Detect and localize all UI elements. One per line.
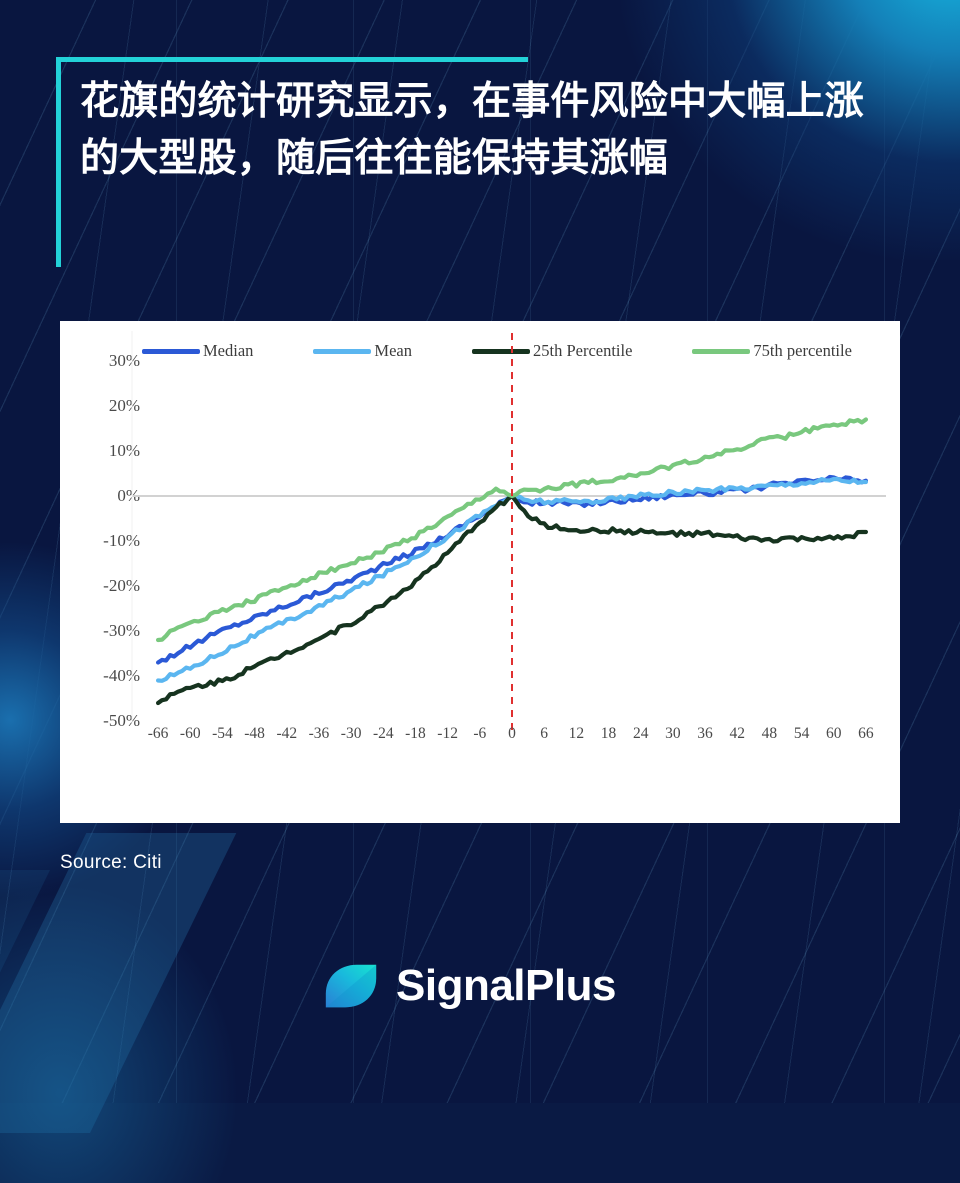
chart-panel: MedianMean25th Percentile75th percentile… [60,321,900,823]
accent-bar-vertical [56,57,61,267]
x-axis-tick-label: -42 [276,725,297,743]
x-axis-tick-label: 18 [601,725,617,743]
signalplus-mark-icon [320,955,382,1017]
x-axis-tick-label: 30 [665,725,681,743]
x-axis-tick-label: -60 [180,725,201,743]
glow-bottom-left [0,883,240,1183]
x-axis-tick-label: 54 [794,725,810,743]
x-axis-tick-label: -18 [405,725,426,743]
x-axis-tick-label: 48 [762,725,778,743]
x-axis-tick-label: -12 [437,725,458,743]
brand-logo: SignalPlus [320,955,616,1017]
x-axis-tick-label: 6 [540,725,548,743]
x-axis-tick-label: 60 [826,725,842,743]
source-label: Source: Citi [60,852,162,874]
x-axis-tick-label: -6 [473,725,486,743]
title-block: 花旗的统计研究显示，在事件风险中大幅上涨的大型股，随后往往能保持其涨幅 [56,57,896,188]
brand-name: SignalPlus [396,964,616,1008]
line-chart [60,321,900,761]
x-axis-tick-label: 66 [858,725,874,743]
x-axis-tick-label: 12 [569,725,585,743]
x-axis-tick-label: 24 [633,725,649,743]
page-title: 花旗的统计研究显示，在事件风险中大幅上涨的大型股，随后往往能保持其涨幅 [80,57,900,188]
x-axis-tick-label: -24 [373,725,394,743]
x-axis-tick-label: 36 [697,725,713,743]
chart-plot-area: 30%20%10%0%-10%-20%-30%-40%-50% -66-60-5… [60,321,900,761]
x-axis-tick-label: 42 [729,725,745,743]
accent-bar-horizontal [56,57,528,62]
x-axis-tick-label: -36 [309,725,330,743]
x-axis-labels: -66-60-54-48-42-36-30-24-18-12-606121824… [60,725,900,765]
x-axis-tick-label: -66 [148,725,169,743]
x-axis-tick-label: -48 [244,725,265,743]
x-axis-tick-label: 0 [508,725,516,743]
x-axis-tick-label: -54 [212,725,233,743]
x-axis-tick-label: -30 [341,725,362,743]
